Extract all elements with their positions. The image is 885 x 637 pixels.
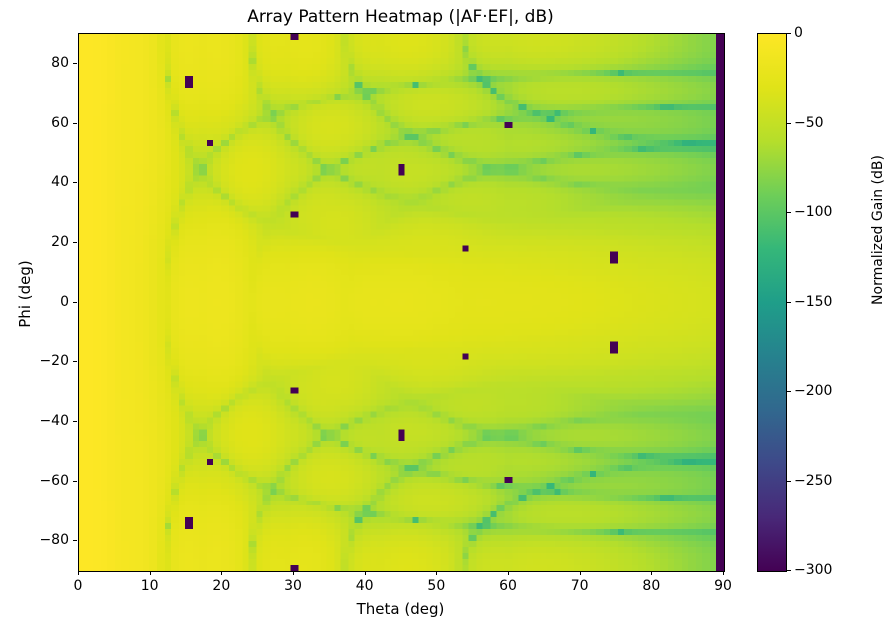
y-tick-label: 80 bbox=[13, 55, 69, 71]
y-tick-mark bbox=[73, 302, 77, 303]
colorbar-tick-label: −300 bbox=[794, 562, 832, 578]
x-tick-mark bbox=[78, 571, 79, 575]
x-tick-label: 70 bbox=[550, 578, 610, 594]
x-tick-mark bbox=[580, 571, 581, 575]
colorbar-tick-mark bbox=[787, 33, 791, 34]
y-tick-label: 60 bbox=[13, 115, 69, 131]
page-title: Array Pattern Heatmap (|AF·EF|, dB) bbox=[78, 6, 723, 28]
y-tick-mark bbox=[73, 123, 77, 124]
heatmap-image bbox=[79, 34, 724, 571]
x-tick-mark bbox=[436, 571, 437, 575]
y-tick-label: −40 bbox=[13, 413, 69, 429]
x-tick-label: 20 bbox=[191, 578, 251, 594]
y-tick-mark bbox=[73, 63, 77, 64]
colorbar-tick-label: −150 bbox=[794, 294, 832, 310]
x-tick-label: 0 bbox=[48, 578, 108, 594]
colorbar-tick-mark bbox=[787, 212, 791, 213]
y-tick-label: −80 bbox=[13, 532, 69, 548]
y-tick-label: 40 bbox=[13, 174, 69, 190]
x-tick-label: 60 bbox=[478, 578, 538, 594]
figure-canvas: Array Pattern Heatmap (|AF·EF|, dB) 0102… bbox=[0, 0, 885, 637]
y-tick-mark bbox=[73, 481, 77, 482]
colorbar-tick-label: −50 bbox=[794, 115, 824, 131]
colorbar-tick-label: −250 bbox=[794, 473, 832, 489]
colorbar[interactable] bbox=[757, 33, 787, 572]
colorbar-tick-label: −200 bbox=[794, 383, 832, 399]
colorbar-gradient bbox=[758, 34, 786, 571]
x-tick-mark bbox=[293, 571, 294, 575]
y-tick-mark bbox=[73, 361, 77, 362]
y-tick-label: −60 bbox=[13, 473, 69, 489]
colorbar-tick-mark bbox=[787, 302, 791, 303]
colorbar-tick-mark bbox=[787, 391, 791, 392]
x-tick-label: 10 bbox=[120, 578, 180, 594]
y-tick-mark bbox=[73, 421, 77, 422]
x-tick-label: 90 bbox=[693, 578, 753, 594]
x-tick-mark bbox=[508, 571, 509, 575]
x-tick-label: 80 bbox=[621, 578, 681, 594]
x-tick-mark bbox=[221, 571, 222, 575]
colorbar-tick-mark bbox=[787, 481, 791, 482]
y-tick-mark bbox=[73, 182, 77, 183]
colorbar-tick-label: 0 bbox=[794, 25, 803, 41]
x-tick-label: 30 bbox=[263, 578, 323, 594]
y-tick-mark bbox=[73, 242, 77, 243]
heatmap-axes[interactable] bbox=[78, 33, 725, 572]
x-axis-label: Theta (deg) bbox=[78, 600, 723, 618]
x-tick-mark bbox=[651, 571, 652, 575]
x-tick-mark bbox=[723, 571, 724, 575]
colorbar-tick-mark bbox=[787, 123, 791, 124]
y-tick-mark bbox=[73, 540, 77, 541]
colorbar-tick-label: −100 bbox=[794, 204, 832, 220]
x-tick-mark bbox=[150, 571, 151, 575]
colorbar-tick-mark bbox=[787, 570, 791, 571]
x-tick-label: 40 bbox=[335, 578, 395, 594]
x-tick-mark bbox=[365, 571, 366, 575]
colorbar-label: Normalized Gain (dB) bbox=[870, 140, 885, 320]
y-axis-label: Phi (deg) bbox=[16, 214, 34, 374]
x-tick-label: 50 bbox=[406, 578, 466, 594]
